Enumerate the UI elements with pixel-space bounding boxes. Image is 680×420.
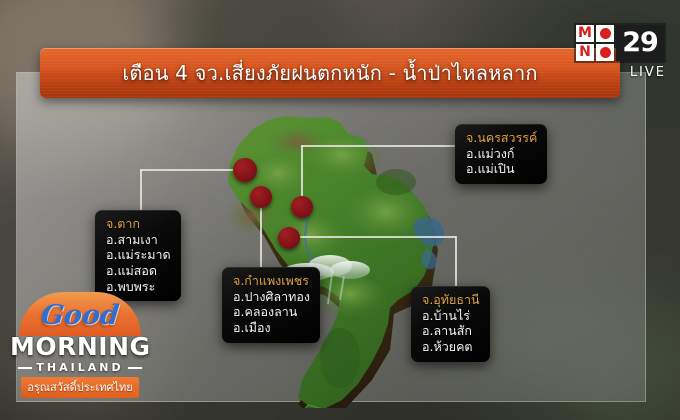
- callout-province-name: จ.อุทัยธานี: [422, 292, 480, 308]
- logo-letter-o-top: [596, 25, 614, 42]
- callout-district: อ.สามเงา: [106, 232, 171, 248]
- logo-letter-o-bottom: [596, 44, 614, 61]
- callout-uthai-thani[interactable]: จ.อุทัยธานี อ.บ้านไร่ อ.ลานสัก อ.ห้วยคต: [411, 286, 490, 362]
- connector-nakhon-sawan: [301, 145, 456, 147]
- map-marker[interactable]: [291, 196, 313, 218]
- rule-left: [18, 367, 32, 369]
- map-marker[interactable]: [250, 186, 272, 208]
- program-thailand-row: THAILAND: [10, 361, 150, 374]
- sunrise-icon: Good: [19, 292, 141, 336]
- callout-nakhon-sawan[interactable]: จ.นครสวรรค์ อ.แม่วงก์ อ.แม่เปิน: [455, 124, 547, 184]
- logo-dot-icon: [600, 47, 611, 58]
- headline-text: เตือน 4 จว.เสี่ยงภัยฝนตกหนัก - น้ำป่าไหล…: [122, 57, 537, 89]
- logo-letter-n: N: [576, 44, 594, 61]
- callout-district: อ.คลองลาน: [233, 304, 310, 320]
- connector-uthai-thani: [455, 236, 457, 288]
- program-word-thailand: THAILAND: [36, 361, 123, 374]
- callout-kamphaeng-phet[interactable]: จ.กำแพงเพชร อ.ปางศิลาทอง อ.คลองลาน อ.เมื…: [222, 267, 320, 343]
- map-marker[interactable]: [278, 227, 300, 249]
- connector-tak: [140, 169, 246, 171]
- callout-district: อ.แม่ระมาด: [106, 247, 171, 263]
- callout-district: อ.บ้านไร่: [422, 308, 480, 324]
- headline-banner: เตือน 4 จว.เสี่ยงภัยฝนตกหนัก - น้ำป่าไหล…: [40, 48, 620, 98]
- program-thai-tagline: อรุณสวัสดิ์ประเทศไทย: [21, 377, 139, 398]
- logo-channel-number: 29: [616, 25, 664, 61]
- logo-dot-icon: [600, 28, 611, 39]
- callout-province-name: จ.กำแพงเพชร: [233, 273, 310, 289]
- map-marker[interactable]: [233, 158, 257, 182]
- callout-district: อ.ห้วยคต: [422, 339, 480, 355]
- callout-district: อ.เมือง: [233, 320, 310, 336]
- channel-logo: M N 29 LIVE: [574, 22, 666, 80]
- callout-district: อ.ปางศิลาทอง: [233, 289, 310, 305]
- rule-right: [128, 367, 142, 369]
- mono-letter-grid: M N: [576, 25, 614, 61]
- callout-tak[interactable]: จ.ตาก อ.สามเงา อ.แม่ระมาด อ.แม่สอด อ.พบพ…: [95, 210, 181, 301]
- callout-district: อ.ลานสัก: [422, 323, 480, 339]
- connector-tak: [140, 169, 142, 211]
- callout-province-name: จ.นครสวรรค์: [466, 130, 537, 146]
- callout-district: อ.แม่สอด: [106, 263, 171, 279]
- program-word-morning: MORNING: [10, 334, 150, 359]
- program-word-good: Good: [17, 300, 142, 331]
- callout-province-name: จ.ตาก: [106, 216, 171, 232]
- connector-uthai-thani: [289, 236, 456, 238]
- logo-letter-m: M: [576, 25, 594, 42]
- program-logo: Good MORNING THAILAND อรุณสวัสดิ์ประเทศไ…: [10, 292, 150, 398]
- mono29-logo-icon: M N 29: [574, 23, 666, 63]
- callout-district: อ.แม่วงก์: [466, 146, 537, 162]
- live-label: LIVE: [574, 65, 666, 80]
- broadcast-screen: เตือน 4 จว.เสี่ยงภัยฝนตกหนัก - น้ำป่าไหล…: [0, 0, 680, 420]
- callout-district: อ.แม่เปิน: [466, 161, 537, 177]
